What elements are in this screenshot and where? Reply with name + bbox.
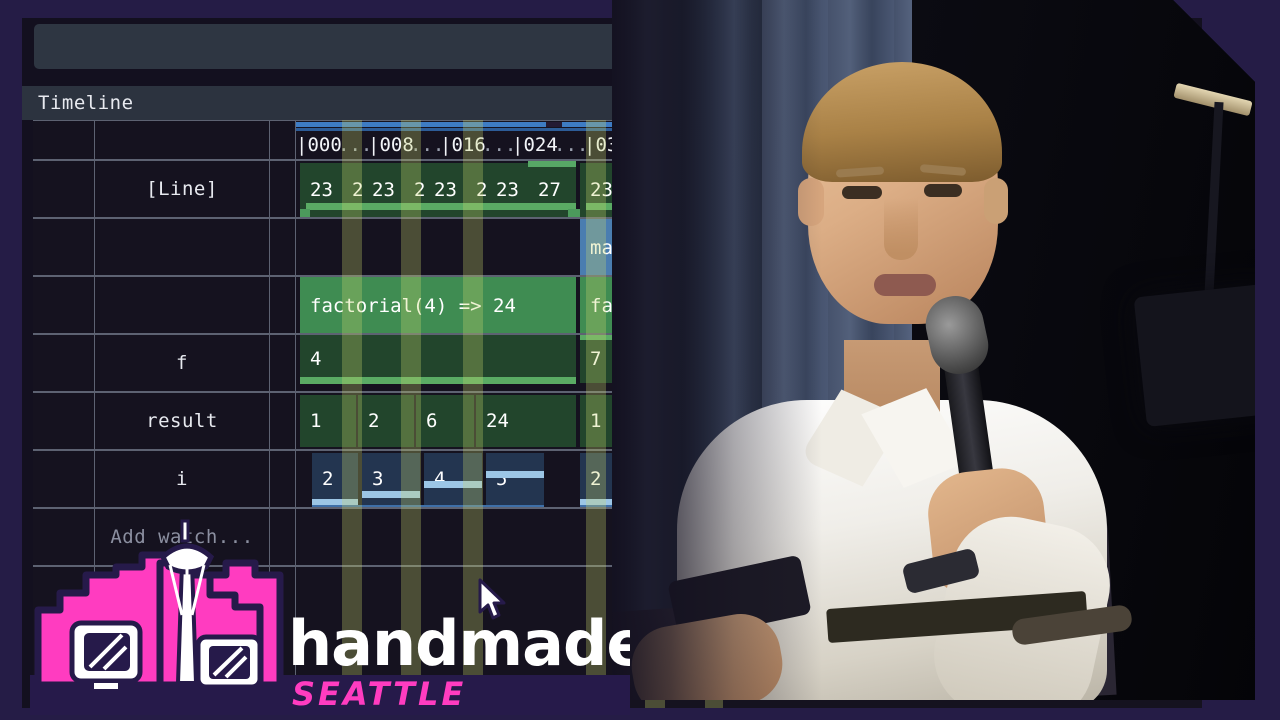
block-label: 23 bbox=[362, 179, 395, 201]
i-block-0[interactable]: 2 bbox=[312, 453, 358, 505]
i-block-3[interactable]: 5 bbox=[486, 453, 544, 505]
row-label-i[interactable]: i bbox=[95, 451, 270, 507]
i-value-bar-1 bbox=[362, 491, 420, 498]
eye-left bbox=[842, 186, 882, 199]
monitor-icon-left bbox=[72, 623, 140, 691]
row-label-cell bbox=[95, 121, 270, 159]
row-label-f[interactable]: f bbox=[95, 335, 270, 391]
row-gutter bbox=[33, 161, 95, 217]
row-gutter bbox=[33, 451, 95, 507]
block-label: 2 bbox=[312, 468, 333, 490]
block-label: 23 bbox=[424, 179, 457, 201]
row-label-result[interactable]: result bbox=[95, 393, 270, 449]
chair-icon bbox=[1134, 283, 1280, 427]
i-row-strip-left bbox=[312, 505, 544, 507]
row-gutter bbox=[33, 335, 95, 391]
block-label: 27 bbox=[528, 179, 561, 201]
block-label: 2 bbox=[580, 468, 601, 490]
nose bbox=[884, 198, 918, 260]
block-label: 24 bbox=[342, 179, 362, 201]
i-value-bar-3 bbox=[486, 471, 544, 478]
block-label: 24 bbox=[476, 410, 509, 432]
row-label-text: [Line] bbox=[146, 178, 218, 200]
row-narrow-cell bbox=[270, 121, 296, 159]
row-narrow-cell bbox=[270, 335, 296, 391]
ruler-tick-000: |000 bbox=[296, 132, 342, 158]
line-bar-left bbox=[306, 203, 576, 210]
logo-svg: handmade SEATTLE bbox=[30, 515, 630, 715]
ruler-tick-024: |024 bbox=[512, 132, 558, 158]
line-chip-top bbox=[528, 161, 576, 167]
block-label: factorial(4) => 24 bbox=[300, 295, 516, 317]
row-label-frames bbox=[95, 277, 270, 333]
row-label-text: f bbox=[176, 352, 188, 374]
f-bar-0 bbox=[300, 377, 576, 384]
result-block-0[interactable]: 1 bbox=[300, 395, 356, 447]
row-gutter bbox=[33, 121, 95, 159]
logo-subtitle: SEATTLE bbox=[292, 675, 466, 713]
block-label: 7 bbox=[580, 348, 601, 370]
i-block-2[interactable]: 4 bbox=[424, 453, 482, 505]
row-gutter bbox=[33, 393, 95, 449]
block-label: 23 bbox=[300, 179, 333, 201]
logo-wordmark: handmade bbox=[288, 607, 630, 680]
frame-block-0[interactable]: factorial(4) => 24 bbox=[300, 277, 576, 333]
block-label: 23 bbox=[580, 179, 613, 201]
timeline-playhead-notch bbox=[546, 122, 562, 127]
cursor-arrow-icon bbox=[480, 580, 504, 618]
row-label-callstack bbox=[95, 219, 270, 275]
video-edge-fade bbox=[612, 0, 822, 700]
eye-right bbox=[924, 184, 962, 197]
row-gutter bbox=[33, 277, 95, 333]
block-label: 1 bbox=[300, 410, 321, 432]
page-title: Timeline bbox=[22, 92, 134, 114]
row-label-line[interactable]: [Line] bbox=[95, 161, 270, 217]
row-narrow-cell bbox=[270, 451, 296, 507]
mouth bbox=[874, 274, 936, 296]
row-narrow-cell bbox=[270, 277, 296, 333]
ruler-tick-008: |008 bbox=[368, 132, 414, 158]
screen-root: Timeline |000...|008...|016...|024...|03… bbox=[0, 0, 1280, 720]
block-label: 1 bbox=[580, 410, 601, 432]
i-value-bar-2 bbox=[424, 481, 482, 488]
block-label: 24 bbox=[404, 179, 424, 201]
line-chip-mid bbox=[568, 209, 580, 217]
mouse-cursor bbox=[478, 578, 508, 622]
row-narrow-cell bbox=[270, 393, 296, 449]
handmade-seattle-logo: handmade SEATTLE bbox=[30, 515, 630, 715]
row-gutter bbox=[33, 219, 95, 275]
block-label: 6 bbox=[416, 410, 437, 432]
result-block-2[interactable]: 6 bbox=[416, 395, 474, 447]
i-block-1[interactable]: 3 bbox=[362, 453, 420, 505]
ear-right bbox=[984, 178, 1008, 224]
row-narrow-cell bbox=[270, 219, 296, 275]
f-block-0[interactable]: 4 bbox=[300, 335, 576, 383]
row-label-text: result bbox=[146, 410, 218, 432]
ruler-tick-016: |016 bbox=[440, 132, 486, 158]
monitor-icon-right bbox=[198, 637, 260, 687]
speaker-video bbox=[612, 0, 1280, 700]
result-block-3[interactable]: 24 bbox=[476, 395, 576, 447]
row-narrow-cell bbox=[270, 161, 296, 217]
block-label: 24 bbox=[466, 179, 486, 201]
result-block-1[interactable]: 2 bbox=[358, 395, 414, 447]
block-label: 23 bbox=[486, 179, 519, 201]
line-chip-start bbox=[300, 209, 310, 217]
block-label: 4 bbox=[300, 348, 321, 370]
row-label-text: i bbox=[176, 468, 188, 490]
block-label: 2 bbox=[358, 410, 379, 432]
block-label: 3 bbox=[362, 468, 383, 490]
